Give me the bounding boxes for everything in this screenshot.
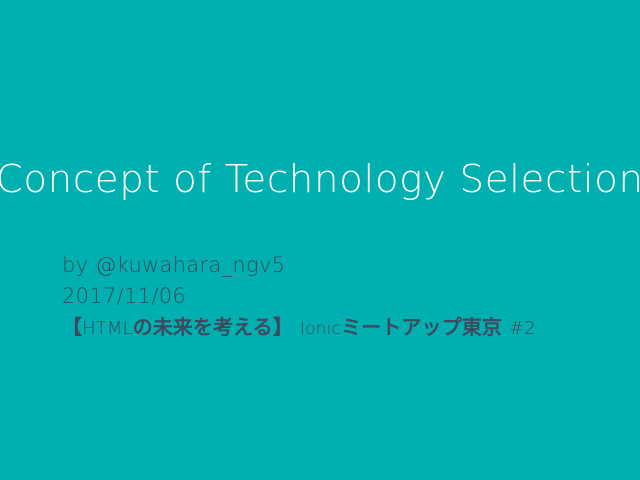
page-title: Concept of Technology Selection — [0, 158, 640, 202]
event-topic-latin: HTML — [82, 318, 133, 339]
event-edition: #2 — [509, 318, 536, 339]
event-line: 【HTMLの未来を考える】Ionicミートアップ東京#2 — [62, 312, 622, 343]
date-line: 2017/11/06 — [62, 281, 622, 312]
bracket-close: 】 — [273, 315, 293, 339]
presentation-slide: Concept of Technology Selection by @kuwa… — [0, 0, 640, 480]
event-name-jp: ミートアップ東京 — [341, 315, 502, 339]
bracket-open: 【 — [62, 315, 82, 339]
event-brand: Ionic — [300, 319, 341, 339]
author-line: by @kuwahara_ngv5 — [62, 250, 622, 281]
title-block: Concept of Technology Selection — [0, 158, 640, 202]
event-topic-jp: の未来を考える — [133, 315, 273, 339]
subtitle-block: by @kuwahara_ngv5 2017/11/06 【HTMLの未来を考え… — [62, 250, 622, 343]
